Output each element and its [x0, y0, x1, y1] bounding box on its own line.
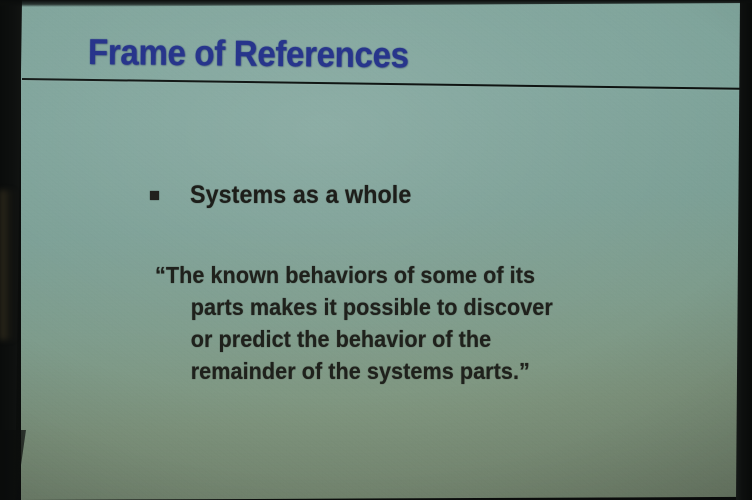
square-bullet-icon	[150, 191, 159, 200]
quote-line-1: “The known behaviors of some of its	[155, 259, 553, 291]
projected-slide-photo: Frame of References Systems as a whole “…	[0, 0, 752, 500]
title-underline-rule	[22, 78, 740, 90]
quote-line-3: or predict the behavior of the	[155, 323, 553, 355]
bullet-item-label: Systems as a whole	[190, 181, 411, 210]
page-title: Frame of References	[88, 31, 409, 76]
screen-left-edge-highlight	[0, 190, 16, 340]
quote-line-4: remainder of the systems parts.”	[155, 355, 553, 387]
slide-content: Frame of References Systems as a whole “…	[0, 0, 752, 500]
bullet-list-item: Systems as a whole	[150, 181, 428, 210]
quote-line-2: parts makes it possible to discover	[155, 291, 553, 323]
quotation-block: “The known behaviors of some of its part…	[155, 259, 553, 387]
